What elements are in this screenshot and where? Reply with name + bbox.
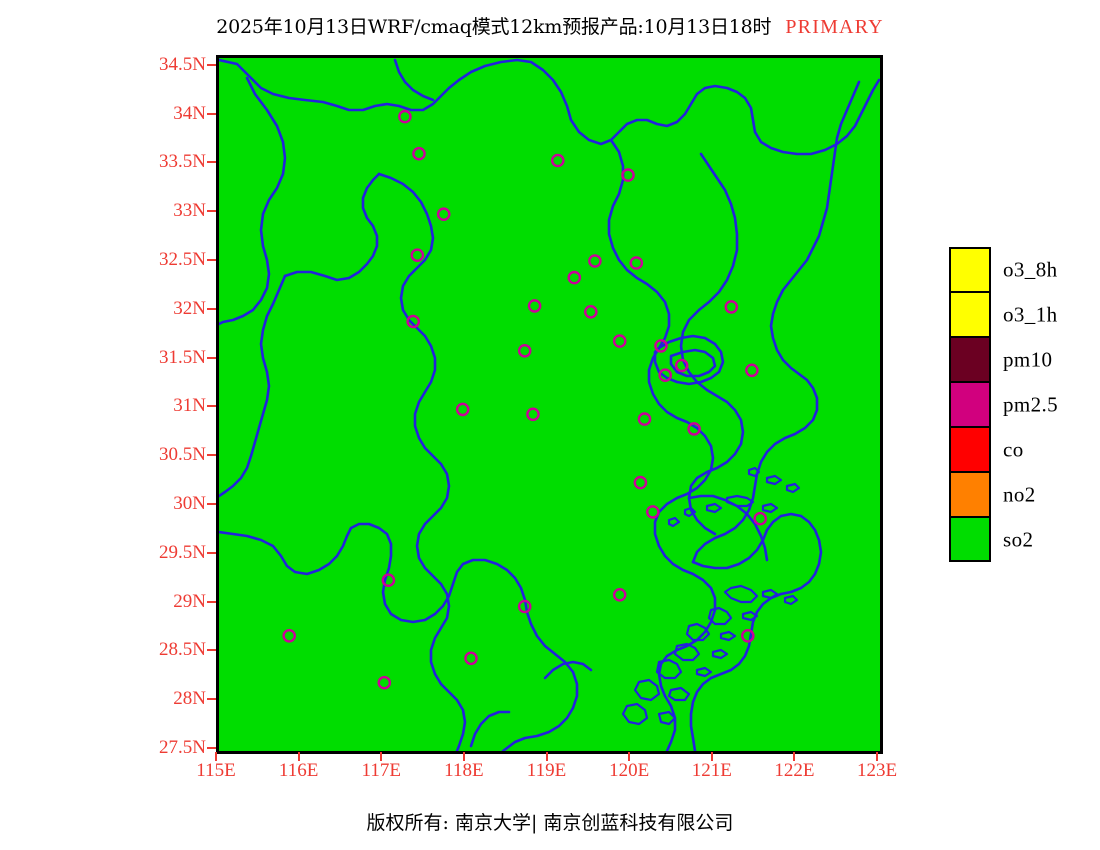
- longitude-tick: [876, 752, 878, 761]
- longitude-label: 117E: [362, 760, 401, 782]
- legend-label: so2: [1003, 527, 1033, 552]
- legend-swatch-so2: [949, 517, 991, 562]
- longitude-label: 123E: [857, 760, 897, 782]
- latitude-label: 28.5N: [159, 639, 206, 661]
- legend-label: o3_1h: [1003, 302, 1058, 327]
- latitude-tick: [207, 357, 216, 359]
- legend-label: co: [1003, 437, 1024, 462]
- latitude-tick: [207, 161, 216, 163]
- latitude-tick: [207, 405, 216, 407]
- map-background: [219, 58, 880, 751]
- longitude-tick: [546, 752, 548, 761]
- latitude-label: 33.5N: [159, 151, 206, 173]
- legend-label: o3_8h: [1003, 257, 1058, 282]
- legend-swatch-pm10: [949, 337, 991, 382]
- latitude-label: 31N: [173, 395, 206, 417]
- latitude-label: 30N: [173, 493, 206, 515]
- latitude-label: 34N: [173, 103, 206, 125]
- latitude-tick: [207, 503, 216, 505]
- forecast-map[interactable]: [216, 55, 883, 754]
- longitude-axis: 115E116E117E118E119E120E121E122E123E: [0, 760, 1100, 790]
- latitude-tick: [207, 601, 216, 603]
- latitude-label: 30.5N: [159, 444, 206, 466]
- longitude-label: 119E: [527, 760, 566, 782]
- longitude-tick: [793, 752, 795, 761]
- latitude-tick: [207, 259, 216, 261]
- latitude-tick: [207, 113, 216, 115]
- latitude-label: 29N: [173, 591, 206, 613]
- legend-label: pm10: [1003, 347, 1052, 372]
- longitude-tick: [711, 752, 713, 761]
- latitude-label: 29.5N: [159, 542, 206, 564]
- latitude-tick: [207, 552, 216, 554]
- longitude-label: 122E: [774, 760, 814, 782]
- latitude-label: 31.5N: [159, 347, 206, 369]
- legend-swatch-pm2-5: [949, 382, 991, 427]
- latitude-tick: [207, 64, 216, 66]
- legend-swatch-o3-8h: [949, 247, 991, 292]
- latitude-label: 34.5N: [159, 54, 206, 76]
- longitude-label: 118E: [444, 760, 483, 782]
- latitude-axis: 34.5N34N33.5N33N32.5N32N31.5N31N30.5N30N…: [0, 0, 206, 850]
- copyright-footer: 版权所有: 南京大学| 南京创蓝科技有限公司: [0, 808, 1100, 835]
- longitude-tick: [463, 752, 465, 761]
- longitude-label: 120E: [609, 760, 649, 782]
- latitude-tick: [207, 698, 216, 700]
- latitude-tick: [207, 454, 216, 456]
- longitude-label: 116E: [279, 760, 318, 782]
- latitude-label: 32.5N: [159, 249, 206, 271]
- latitude-label: 32N: [173, 298, 206, 320]
- latitude-label: 33N: [173, 200, 206, 222]
- longitude-label: 115E: [196, 760, 235, 782]
- longitude-label: 121E: [692, 760, 732, 782]
- latitude-tick: [207, 649, 216, 651]
- longitude-tick: [215, 752, 217, 761]
- legend-label: no2: [1003, 482, 1036, 507]
- legend-swatch-no2: [949, 472, 991, 517]
- longitude-tick: [298, 752, 300, 761]
- latitude-tick: [207, 747, 216, 749]
- legend-swatch-co: [949, 427, 991, 472]
- legend-swatch-o3-1h: [949, 292, 991, 337]
- latitude-tick: [207, 308, 216, 310]
- title-main-text: 2025年10月13日WRF/cmaq模式12km预报产品:10月13日18时: [216, 16, 771, 38]
- map-canvas: [219, 58, 880, 751]
- longitude-tick: [628, 752, 630, 761]
- legend-label: pm2.5: [1003, 392, 1058, 417]
- latitude-tick: [207, 210, 216, 212]
- latitude-label: 27.5N: [159, 737, 206, 759]
- latitude-label: 28N: [173, 688, 206, 710]
- title-primary-tag: PRIMARY: [785, 16, 883, 38]
- longitude-tick: [380, 752, 382, 761]
